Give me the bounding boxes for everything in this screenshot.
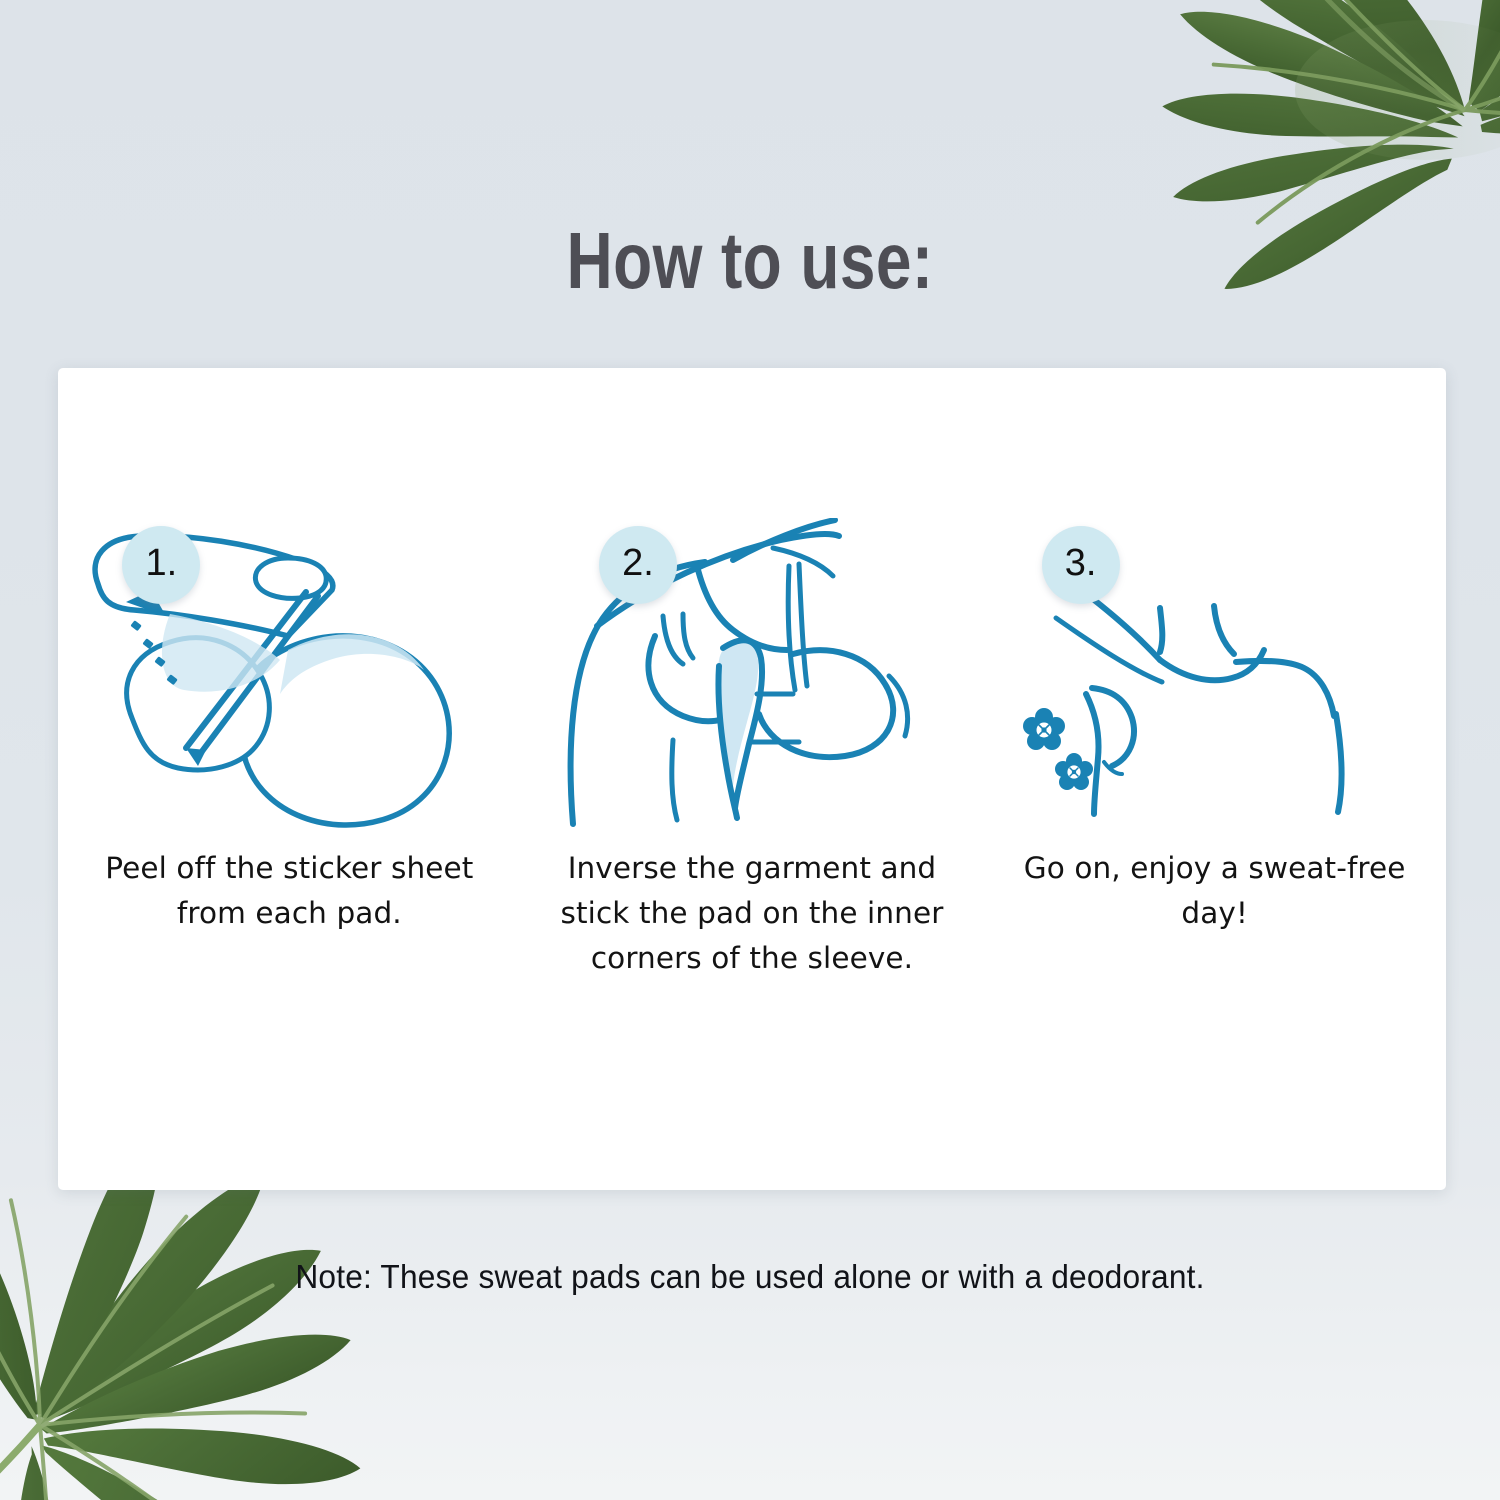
step-item-2: 2. Inverse the garment and stick the pad… <box>537 518 967 980</box>
step-number-badge-2: 2. <box>599 526 677 604</box>
step-3-illustration-area: 3. <box>1000 518 1430 838</box>
promo-page: How to use: <box>0 0 1500 1500</box>
step-1-illustration-area: 1. <box>74 518 504 838</box>
step-number-badge-1: 1. <box>122 526 200 604</box>
step-number-badge-3: 3. <box>1042 526 1120 604</box>
step-caption-1: Peel off the sticker sheet from each pad… <box>74 846 504 936</box>
steps-container: 1. Peel off the sticker sheet from each … <box>58 518 1446 1038</box>
page-title: How to use: <box>150 215 1350 307</box>
step-caption-2: Inverse the garment and stick the pad on… <box>537 846 967 980</box>
step-2-illustration-area: 2. <box>537 518 967 838</box>
footer-note: Note: These sweat pads can be used alone… <box>30 1258 1470 1296</box>
step-item-3: 3. Go on, enjoy a sweat-free day! <box>1000 518 1430 936</box>
monstera-leaf-top-right-icon <box>1085 0 1500 380</box>
step-caption-3: Go on, enjoy a sweat-free day! <box>1000 846 1430 936</box>
step-item-1: 1. Peel off the sticker sheet from each … <box>74 518 504 936</box>
instructions-card: 1. Peel off the sticker sheet from each … <box>58 368 1446 1190</box>
monstera-leaf-bottom-left-icon <box>0 1175 425 1500</box>
